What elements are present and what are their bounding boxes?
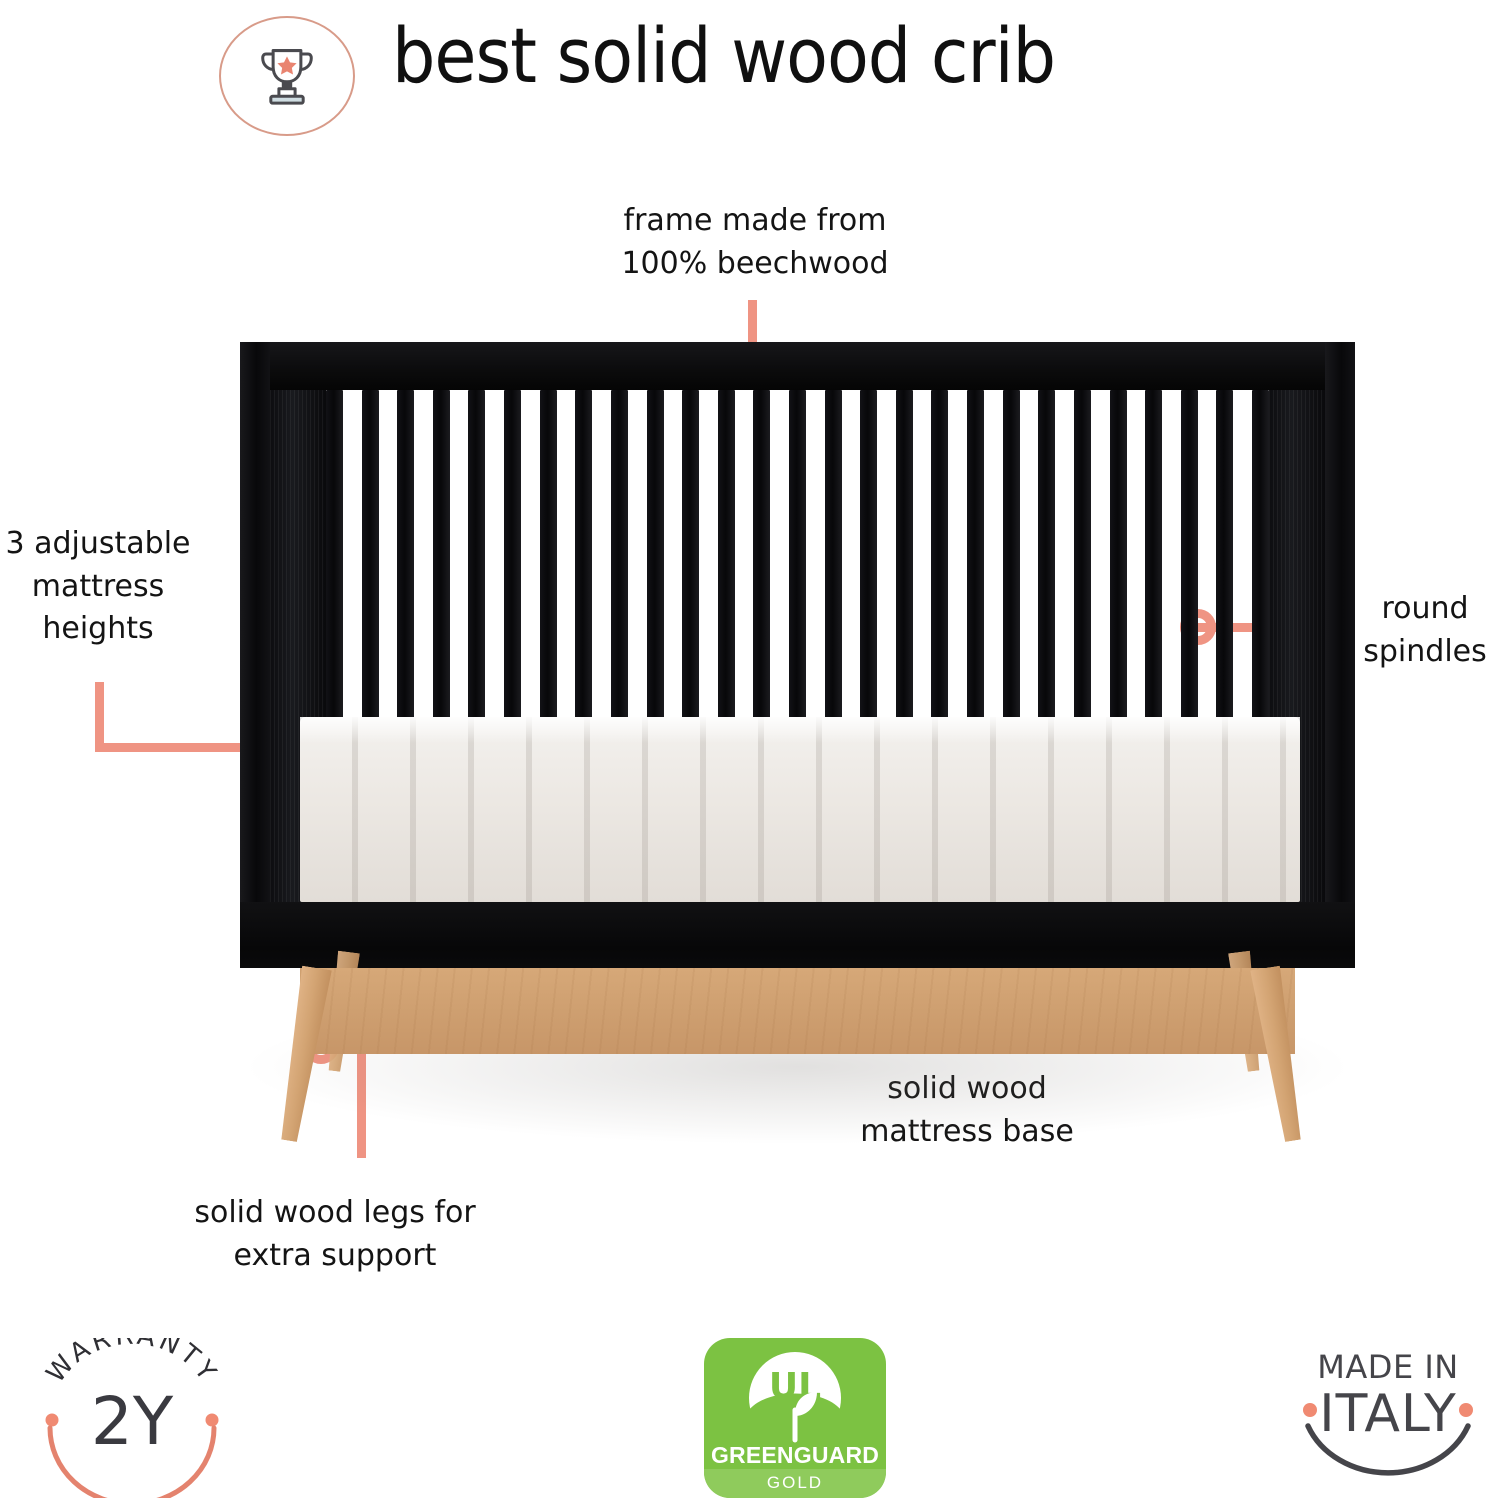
callout-mattress-heights-label: 3 adjustable mattress heights xyxy=(0,523,196,651)
crib-post-right xyxy=(1325,342,1355,902)
crib-wood-base-grain xyxy=(300,968,1295,1054)
warranty-dot-left xyxy=(46,1414,59,1427)
crib-top-rail xyxy=(240,342,1355,390)
crib-wood-base xyxy=(300,968,1295,1054)
crib-mattress-tufting xyxy=(300,717,1300,902)
certification-badges: WARRANTY 2Y UL GREENGUARD GOLD xyxy=(0,1330,1492,1500)
callout-round-spindles-label: round spindles xyxy=(1358,588,1492,673)
made-in-dot-right xyxy=(1459,1403,1473,1417)
warranty-arc-label: WARRANTY xyxy=(41,1338,224,1389)
warranty-badge: WARRANTY 2Y xyxy=(22,1338,242,1498)
greenguard-level: GOLD xyxy=(704,1473,886,1493)
warranty-value: 2Y xyxy=(91,1383,174,1460)
crib-frame xyxy=(240,335,1355,935)
made-in-italy-graphic: MADE IN ITALY xyxy=(1288,1338,1488,1498)
page-title: best solid wood crib xyxy=(392,18,1055,94)
warranty-dot-right xyxy=(206,1414,219,1427)
trophy-icon xyxy=(250,39,324,113)
made-in-italy-badge: MADE IN ITALY xyxy=(1288,1338,1488,1498)
callout-mattress-heights-leader-v xyxy=(95,682,104,752)
warranty-badge-graphic: WARRANTY 2Y xyxy=(22,1338,242,1498)
trophy-badge-circle xyxy=(219,16,355,136)
greenguard-ul-mark: UL xyxy=(745,1348,845,1448)
svg-text:WARRANTY: WARRANTY xyxy=(41,1338,224,1389)
crib-bottom-rail xyxy=(240,902,1355,968)
callout-wood-legs-label: solid wood legs for extra support xyxy=(160,1192,510,1277)
greenguard-badge: UL GREENGUARD GOLD xyxy=(704,1338,886,1498)
header: best solid wood crib xyxy=(0,0,1492,160)
crib-mattress-highlight xyxy=(300,717,1300,743)
infographic-page: best solid wood crib frame made from 100… xyxy=(0,0,1492,1500)
made-in-dot-left xyxy=(1303,1403,1317,1417)
made-in-line1: MADE IN xyxy=(1317,1348,1458,1386)
greenguard-name: GREENGUARD xyxy=(704,1442,886,1469)
callout-frame-material-label: frame made from 100% beechwood xyxy=(585,200,925,285)
crib-mattress xyxy=(300,717,1300,902)
crib-product-image xyxy=(240,335,1355,1080)
made-in-line2: ITALY xyxy=(1319,1384,1456,1444)
crib-post-left xyxy=(240,342,270,902)
